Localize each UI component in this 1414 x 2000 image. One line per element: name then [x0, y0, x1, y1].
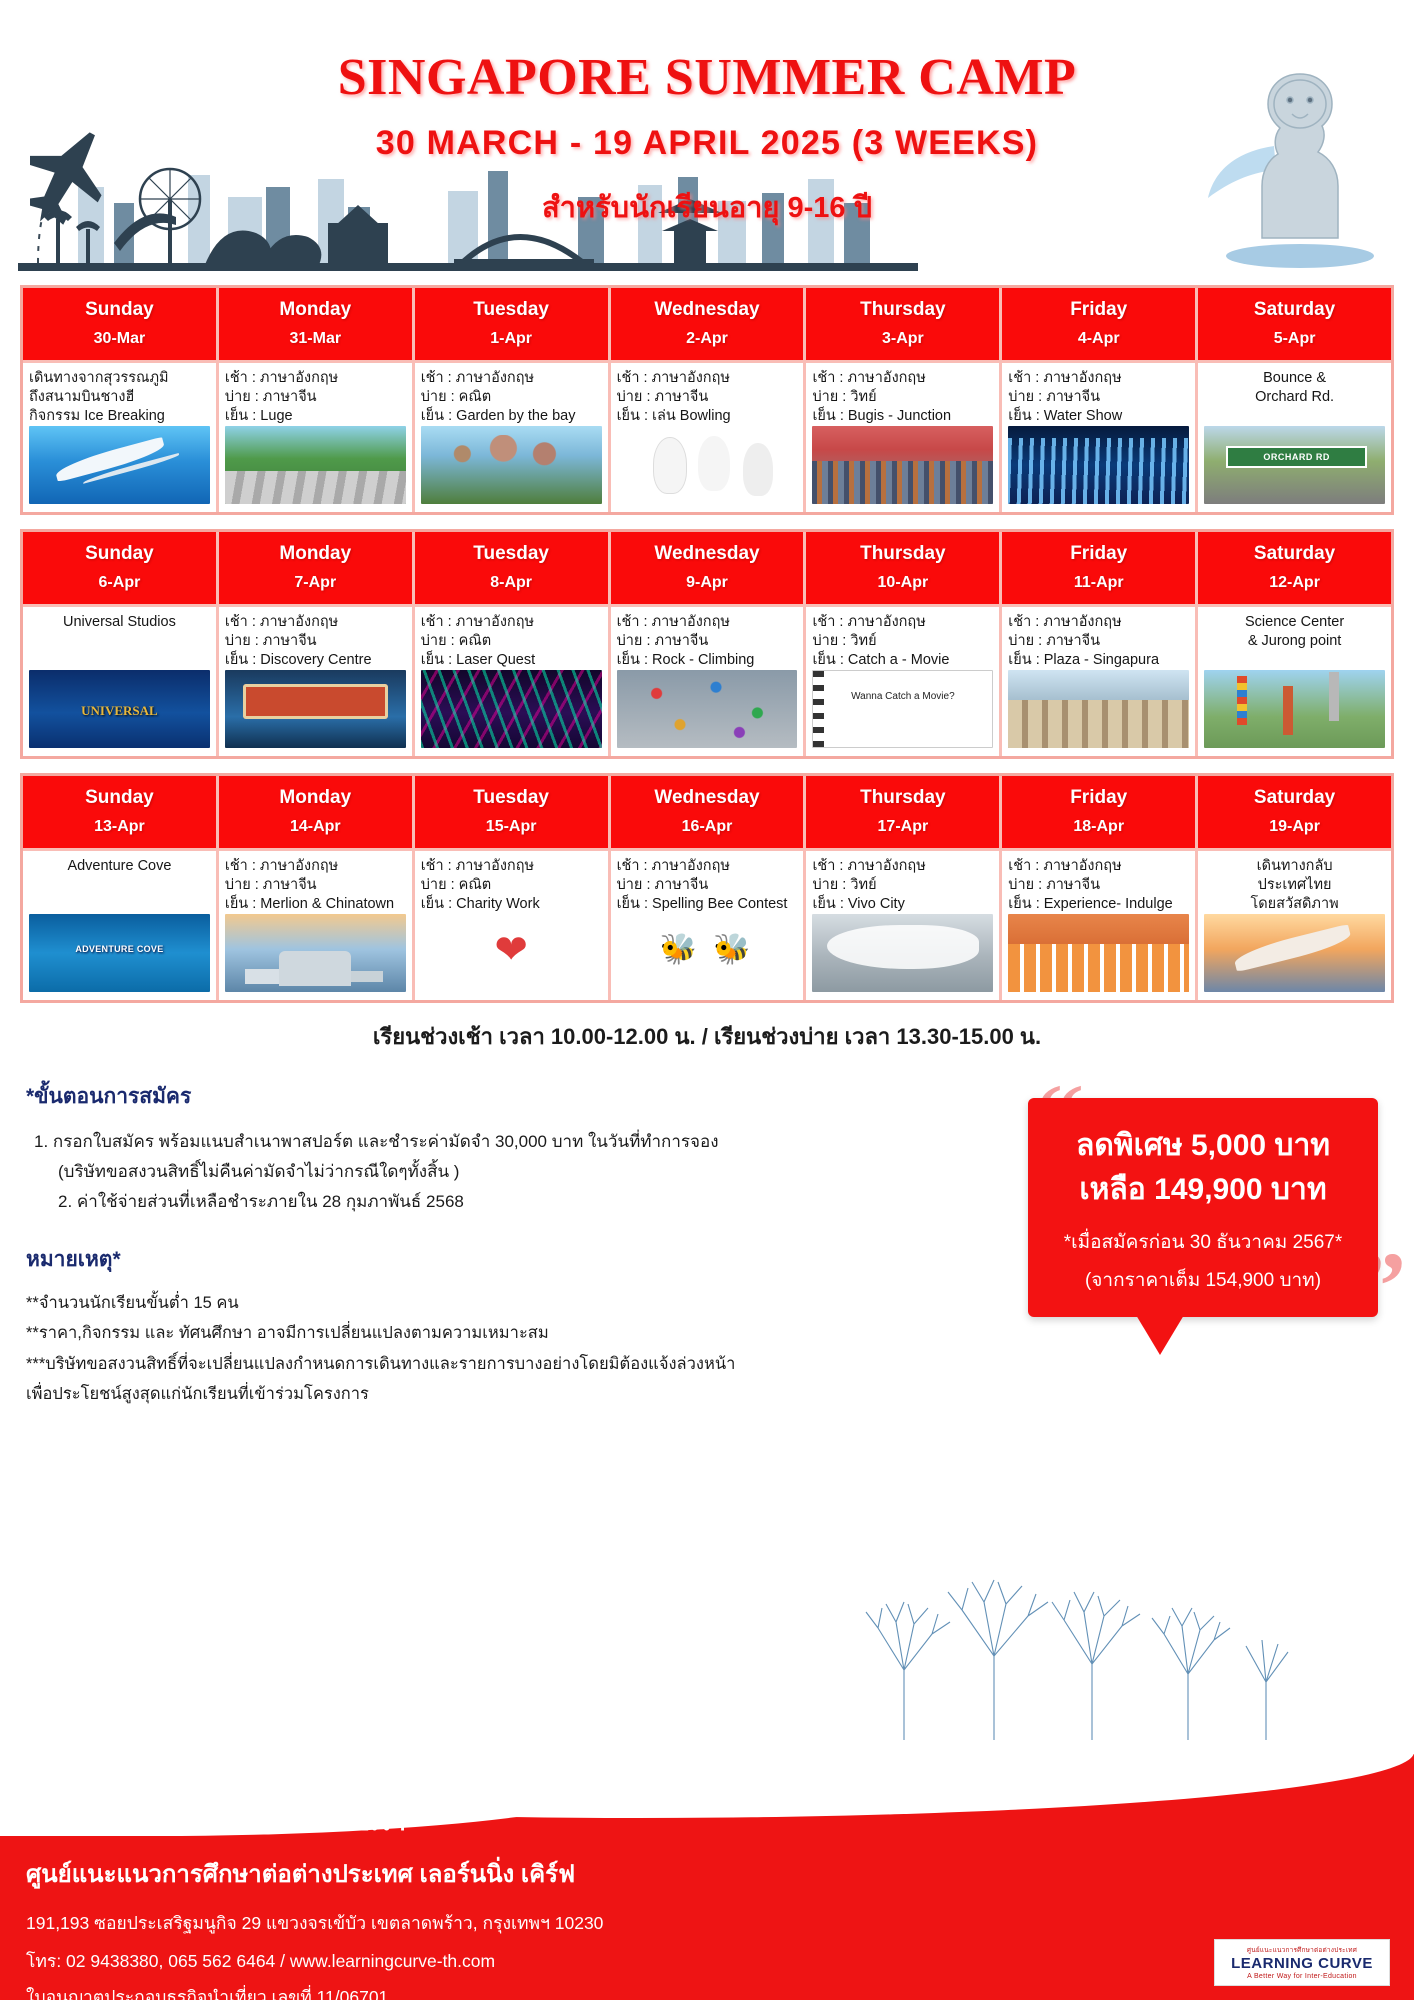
camp-calendar: Sunday 30-Mar Monday 31-Mar Tuesday 1-Ap… [0, 285, 1414, 1003]
day-date-label: 9-Apr [613, 574, 802, 592]
activity-photo-gardens-by-the-bay [421, 426, 602, 504]
day-of-week-label: Monday [221, 542, 410, 566]
day-header-17-apr: Thursday 17-Apr [806, 776, 1002, 848]
activity-text: เช้า : ภาษาอังกฤษ บ่าย : ภาษาจีน เย็น : … [225, 369, 406, 426]
activity-photo-merlion-chinatown [225, 914, 406, 992]
day-header-11-apr: Friday 11-Apr [1002, 532, 1198, 604]
calendar-week-2: Sunday 6-Apr Monday 7-Apr Tuesday 8-Apr … [20, 529, 1394, 759]
activity-photo-spelling-bee [617, 914, 798, 992]
day-header-16-apr: Wednesday 16-Apr [611, 776, 807, 848]
activity-photo-science-center [1204, 670, 1385, 748]
activity-text: เช้า : ภาษาอังกฤษ บ่าย : ภาษาจีน เย็น : … [617, 613, 798, 670]
day-cell-16-apr: เช้า : ภาษาอังกฤษ บ่าย : ภาษาจีน เย็น : … [611, 848, 807, 1000]
travel-license-number: ใบอนุญาตประกอบธุรกิจนำเที่ยว เลขที่ 11/0… [26, 1983, 926, 2000]
day-header-5-apr: Saturday 5-Apr [1198, 288, 1391, 360]
activity-text: เช้า : ภาษาอังกฤษ บ่าย : ภาษาจีน เย็น : … [1008, 369, 1189, 426]
activity-photo-universal-studios [29, 670, 210, 748]
activity-photo-plaza-singapura [1008, 670, 1189, 748]
day-date-label: 13-Apr [25, 818, 214, 836]
day-of-week-label: Friday [1004, 542, 1193, 566]
day-cell-2-apr: เช้า : ภาษาอังกฤษ บ่าย : ภาษาจีน เย็น : … [611, 360, 807, 512]
activity-text: เดินทางกลับ ประเทศไทย โดยสวัสดิภาพ [1204, 857, 1385, 914]
activity-text: Science Center & Jurong point [1204, 613, 1385, 651]
day-of-week-label: Tuesday [417, 298, 606, 322]
day-of-week-label: Tuesday [417, 542, 606, 566]
week-2-activity-row: Universal Studios เช้า : ภาษาอังกฤษ บ่าย… [23, 604, 1391, 756]
day-header-8-apr: Tuesday 8-Apr [415, 532, 611, 604]
week-1-activity-row: เดินทางจากสุวรรณภูมิ ถึงสนามบินชางฮี กิจ… [23, 360, 1391, 512]
day-header-4-apr: Friday 4-Apr [1002, 288, 1198, 360]
airplane-icon [30, 95, 170, 265]
day-header-18-apr: Friday 18-Apr [1002, 776, 1198, 848]
activity-text: เช้า : ภาษาอังกฤษ บ่าย : คณิต เย็น : Cha… [421, 857, 602, 914]
day-of-week-label: Saturday [1200, 786, 1389, 810]
promo-original-price: (จากราคาเต็ม 154,900 บาท) [1042, 1265, 1364, 1295]
activity-text: Universal Studios [29, 613, 210, 632]
day-cell-14-apr: เช้า : ภาษาอังกฤษ บ่าย : ภาษาจีน เย็น : … [219, 848, 415, 1000]
day-cell-1-apr: เช้า : ภาษาอังกฤษ บ่าย : คณิต เย็น : Gar… [415, 360, 611, 512]
day-date-label: 18-Apr [1004, 818, 1193, 836]
activity-photo-bowling [617, 426, 798, 504]
day-of-week-label: Wednesday [613, 786, 802, 810]
day-of-week-label: Friday [1004, 786, 1193, 810]
day-cell-19-apr: เดินทางกลับ ประเทศไทย โดยสวัสดิภาพ [1198, 848, 1391, 1000]
day-header-30-mar: Sunday 30-Mar [23, 288, 219, 360]
day-of-week-label: Sunday [25, 786, 214, 810]
day-header-10-apr: Thursday 10-Apr [806, 532, 1002, 604]
day-header-2-apr: Wednesday 2-Apr [611, 288, 807, 360]
day-of-week-label: Friday [1004, 298, 1193, 322]
lower-info-section: *ขั้นตอนการสมัคร 1. กรอกใบสมัคร พร้อมแนบ… [0, 1080, 1414, 1409]
activity-photo-orchard-road [1204, 426, 1385, 504]
poster-footer: ติดต่อเรา ศูนย์แนะแนวการศึกษาต่อต่างประเ… [0, 1754, 1414, 2000]
day-cell-7-apr: เช้า : ภาษาอังกฤษ บ่าย : ภาษาจีน เย็น : … [219, 604, 415, 756]
logo-tagline: A Better Way for Inter-Education [1221, 1973, 1383, 1980]
week-1-header-row: Sunday 30-Mar Monday 31-Mar Tuesday 1-Ap… [23, 288, 1391, 360]
week-2-header-row: Sunday 6-Apr Monday 7-Apr Tuesday 8-Apr … [23, 532, 1391, 604]
day-cell-5-apr: Bounce & Orchard Rd. [1198, 360, 1391, 512]
day-header-7-apr: Monday 7-Apr [219, 532, 415, 604]
day-date-label: 31-Mar [221, 330, 410, 348]
class-schedule-note: เรียนช่วงเช้า เวลา 10.00-12.00 น. / เรีย… [0, 1019, 1414, 1054]
day-date-label: 14-Apr [221, 818, 410, 836]
day-of-week-label: Thursday [808, 298, 997, 322]
activity-text: เช้า : ภาษาอังกฤษ บ่าย : วิทย์ เย็น : Ca… [812, 613, 993, 670]
note-item: เพื่อประโยชน์สูงสุดแก่นักเรียนที่เข้าร่ว… [26, 1379, 1388, 1410]
activity-text: เช้า : ภาษาอังกฤษ บ่าย : ภาษาจีน เย็น : … [1008, 857, 1189, 914]
day-of-week-label: Thursday [808, 786, 997, 810]
logo-name: LEARNING CURVE [1221, 1955, 1383, 1972]
day-of-week-label: Saturday [1200, 542, 1389, 566]
calendar-week-1: Sunday 30-Mar Monday 31-Mar Tuesday 1-Ap… [20, 285, 1394, 515]
day-cell-30-mar: เดินทางจากสุวรรณภูมิ ถึงสนามบินชางฮี กิจ… [23, 360, 219, 512]
day-header-14-apr: Monday 14-Apr [219, 776, 415, 848]
promo-deadline: *เมื่อสมัครก่อน 30 ธันวาคม 2567* [1042, 1227, 1364, 1257]
day-date-label: 30-Mar [25, 330, 214, 348]
tree-decoration-graphic [864, 1552, 1294, 1742]
day-header-9-apr: Wednesday 9-Apr [611, 532, 807, 604]
calendar-week-3: Sunday 13-Apr Monday 14-Apr Tuesday 15-A… [20, 773, 1394, 1003]
day-date-label: 12-Apr [1200, 574, 1389, 592]
activity-text: เช้า : ภาษาอังกฤษ บ่าย : ภาษาจีน เย็น : … [225, 857, 406, 914]
activity-photo-adventure-cove [29, 914, 210, 992]
day-header-6-apr: Sunday 6-Apr [23, 532, 219, 604]
activity-text: Bounce & Orchard Rd. [1204, 369, 1385, 407]
activity-photo-discovery-centre [225, 670, 406, 748]
day-of-week-label: Monday [221, 298, 410, 322]
day-cell-6-apr: Universal Studios [23, 604, 219, 756]
day-cell-4-apr: เช้า : ภาษาอังกฤษ บ่าย : ภาษาจีน เย็น : … [1002, 360, 1198, 512]
day-of-week-label: Tuesday [417, 786, 606, 810]
day-date-label: 11-Apr [1004, 574, 1193, 592]
contact-block: ติดต่อเรา ศูนย์แนะแนวการศึกษาต่อต่างประเ… [26, 1802, 926, 2000]
organization-phone-website[interactable]: โทร: 02 9438380, 065 562 6464 / www.lear… [26, 1947, 926, 1975]
activity-text: เดินทางจากสุวรรณภูมิ ถึงสนามบินชางฮี กิจ… [29, 369, 210, 426]
day-cell-10-apr: เช้า : ภาษาอังกฤษ บ่าย : วิทย์ เย็น : Ca… [806, 604, 1002, 756]
organization-name: ศูนย์แนะแนวการศึกษาต่อต่างประเทศ เลอร์นน… [26, 1854, 926, 1893]
merlion-icon [1204, 60, 1394, 270]
day-date-label: 10-Apr [808, 574, 997, 592]
learning-curve-logo: ศูนย์แนะแนวการศึกษาต่อต่างประเทศ LEARNIN… [1214, 1939, 1390, 1986]
day-date-label: 19-Apr [1200, 818, 1389, 836]
activity-photo-luge [225, 426, 406, 504]
day-cell-17-apr: เช้า : ภาษาอังกฤษ บ่าย : วิทย์ เย็น : Vi… [806, 848, 1002, 1000]
activity-photo-water-show [1008, 426, 1189, 504]
activity-text: เช้า : ภาษาอังกฤษ บ่าย : วิทย์ เย็น : Bu… [812, 369, 993, 426]
day-of-week-label: Monday [221, 786, 410, 810]
day-header-19-apr: Saturday 19-Apr [1198, 776, 1391, 848]
activity-text: เช้า : ภาษาอังกฤษ บ่าย : วิทย์ เย็น : Vi… [812, 857, 993, 914]
activity-text: เช้า : ภาษาอังกฤษ บ่าย : ภาษาจีน เย็น : … [225, 613, 406, 670]
day-date-label: 4-Apr [1004, 330, 1193, 348]
day-of-week-label: Sunday [25, 298, 214, 322]
day-date-label: 17-Apr [808, 818, 997, 836]
day-cell-8-apr: เช้า : ภาษาอังกฤษ บ่าย : คณิต เย็น : Las… [415, 604, 611, 756]
day-cell-11-apr: เช้า : ภาษาอังกฤษ บ่าย : ภาษาจีน เย็น : … [1002, 604, 1198, 756]
activity-photo-catch-a-movie [812, 670, 993, 748]
day-header-12-apr: Saturday 12-Apr [1198, 532, 1391, 604]
day-cell-31-mar: เช้า : ภาษาอังกฤษ บ่าย : ภาษาจีน เย็น : … [219, 360, 415, 512]
day-date-label: 2-Apr [613, 330, 802, 348]
poster-header [0, 0, 1414, 285]
day-date-label: 3-Apr [808, 330, 997, 348]
day-date-label: 8-Apr [417, 574, 606, 592]
promo-discount-bubble[interactable]: ลดพิเศษ 5,000 บาท เหลือ 149,900 บาท *เมื… [1028, 1098, 1378, 1317]
activity-photo-bugis-junction [812, 426, 993, 504]
day-date-label: 7-Apr [221, 574, 410, 592]
day-of-week-label: Wednesday [613, 542, 802, 566]
day-of-week-label: Wednesday [613, 298, 802, 322]
activity-text: เช้า : ภาษาอังกฤษ บ่าย : คณิต เย็น : Gar… [421, 369, 602, 426]
day-header-1-apr: Tuesday 1-Apr [415, 288, 611, 360]
activity-photo-rock-climbing [617, 670, 798, 748]
week-3-activity-row: Adventure Cove เช้า : ภาษาอังกฤษ บ่าย : … [23, 848, 1391, 1000]
day-cell-15-apr: เช้า : ภาษาอังกฤษ บ่าย : คณิต เย็น : Cha… [415, 848, 611, 1000]
activity-text: เช้า : ภาษาอังกฤษ บ่าย : ภาษาจีน เย็น : … [1008, 613, 1189, 670]
activity-text: เช้า : ภาษาอังกฤษ บ่าย : คณิต เย็น : Las… [421, 613, 602, 670]
activity-photo-return-flight [1204, 914, 1385, 992]
logo-top-text: ศูนย์แนะแนวการศึกษาต่อต่างประเทศ [1221, 1945, 1383, 1955]
activity-text: เช้า : ภาษาอังกฤษ บ่าย : ภาษาจีน เย็น : … [617, 857, 798, 914]
activity-photo-experience-indulge [1008, 914, 1189, 992]
day-date-label: 1-Apr [417, 330, 606, 348]
day-date-label: 5-Apr [1200, 330, 1389, 348]
day-header-31-mar: Monday 31-Mar [219, 288, 415, 360]
day-date-label: 6-Apr [25, 574, 214, 592]
day-header-15-apr: Tuesday 15-Apr [415, 776, 611, 848]
activity-photo-laser-quest [421, 670, 602, 748]
day-date-label: 15-Apr [417, 818, 606, 836]
day-cell-3-apr: เช้า : ภาษาอังกฤษ บ่าย : วิทย์ เย็น : Bu… [806, 360, 1002, 512]
day-date-label: 16-Apr [613, 818, 802, 836]
week-3-header-row: Sunday 13-Apr Monday 14-Apr Tuesday 15-A… [23, 776, 1391, 848]
activity-photo-charity-work [421, 914, 602, 992]
day-cell-12-apr: Science Center & Jurong point [1198, 604, 1391, 756]
day-header-3-apr: Thursday 3-Apr [806, 288, 1002, 360]
day-of-week-label: Saturday [1200, 298, 1389, 322]
day-of-week-label: Thursday [808, 542, 997, 566]
activity-photo-vivo-city [812, 914, 993, 992]
day-of-week-label: Sunday [25, 542, 214, 566]
day-cell-18-apr: เช้า : ภาษาอังกฤษ บ่าย : ภาษาจีน เย็น : … [1002, 848, 1198, 1000]
day-cell-13-apr: Adventure Cove [23, 848, 219, 1000]
day-header-13-apr: Sunday 13-Apr [23, 776, 219, 848]
activity-photo-arrival-flight [29, 426, 210, 504]
activity-text: เช้า : ภาษาอังกฤษ บ่าย : ภาษาจีน เย็น : … [617, 369, 798, 426]
activity-text: Adventure Cove [29, 857, 210, 876]
organization-address: 191,193 ซอยประเสริฐมนูกิจ 29 แขวงจรเข้บั… [26, 1909, 926, 1939]
contact-heading: ติดต่อเรา [26, 1802, 686, 1842]
promo-final-price: เหลือ 149,900 บาท [1042, 1168, 1364, 1212]
day-cell-9-apr: เช้า : ภาษาอังกฤษ บ่าย : ภาษาจีน เย็น : … [611, 604, 807, 756]
promo-discount-amount: ลดพิเศษ 5,000 บาท [1042, 1124, 1364, 1168]
